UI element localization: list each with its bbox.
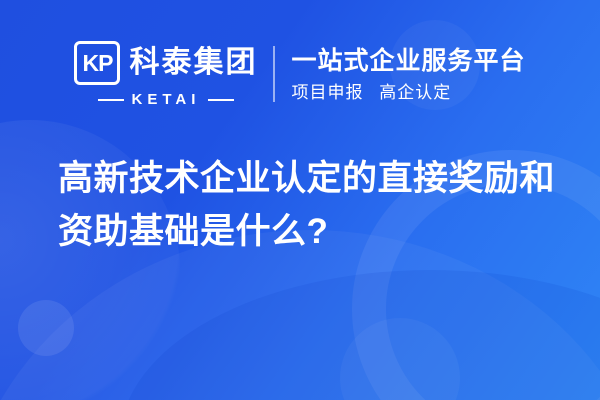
brand-name-en: KETAI — [132, 92, 201, 107]
slogan-tag-1: 项目申报 — [291, 83, 363, 102]
brand-rule-left-icon — [98, 99, 124, 101]
brand-logo-primary: KP 科泰集团 — [74, 41, 257, 85]
brand-logo: KP 科泰集团 KETAI — [74, 41, 257, 107]
promo-banner: KP 科泰集团 KETAI 一站式企业服务平台 项目申报 高企认定 高新技术企业… — [0, 0, 600, 400]
decorative-circle-bottom-left — [18, 300, 74, 356]
slogan-block: 一站式企业服务平台 项目申报 高企认定 — [291, 47, 525, 102]
brand-name-en-row: KETAI — [74, 92, 257, 107]
kp-monogram-icon: KP — [74, 41, 120, 85]
banner-header: KP 科泰集团 KETAI 一站式企业服务平台 项目申报 高企认定 — [0, 38, 600, 110]
kp-monogram-text: KP — [83, 52, 113, 75]
headline-text: 高新技术企业认定的直接奖励和资助基础是什么? — [58, 152, 558, 258]
slogan-main: 一站式企业服务平台 — [291, 47, 525, 76]
brand-name-cn: 科泰集团 — [129, 48, 257, 78]
decorative-circle-bottom-center — [340, 318, 460, 400]
brand-rule-right-icon — [208, 99, 234, 101]
slogan-sub: 项目申报 高企认定 — [291, 84, 525, 101]
decorative-swoosh-secondary — [120, 270, 600, 400]
header-divider — [273, 46, 275, 102]
slogan-tag-2: 高企认定 — [379, 83, 451, 102]
